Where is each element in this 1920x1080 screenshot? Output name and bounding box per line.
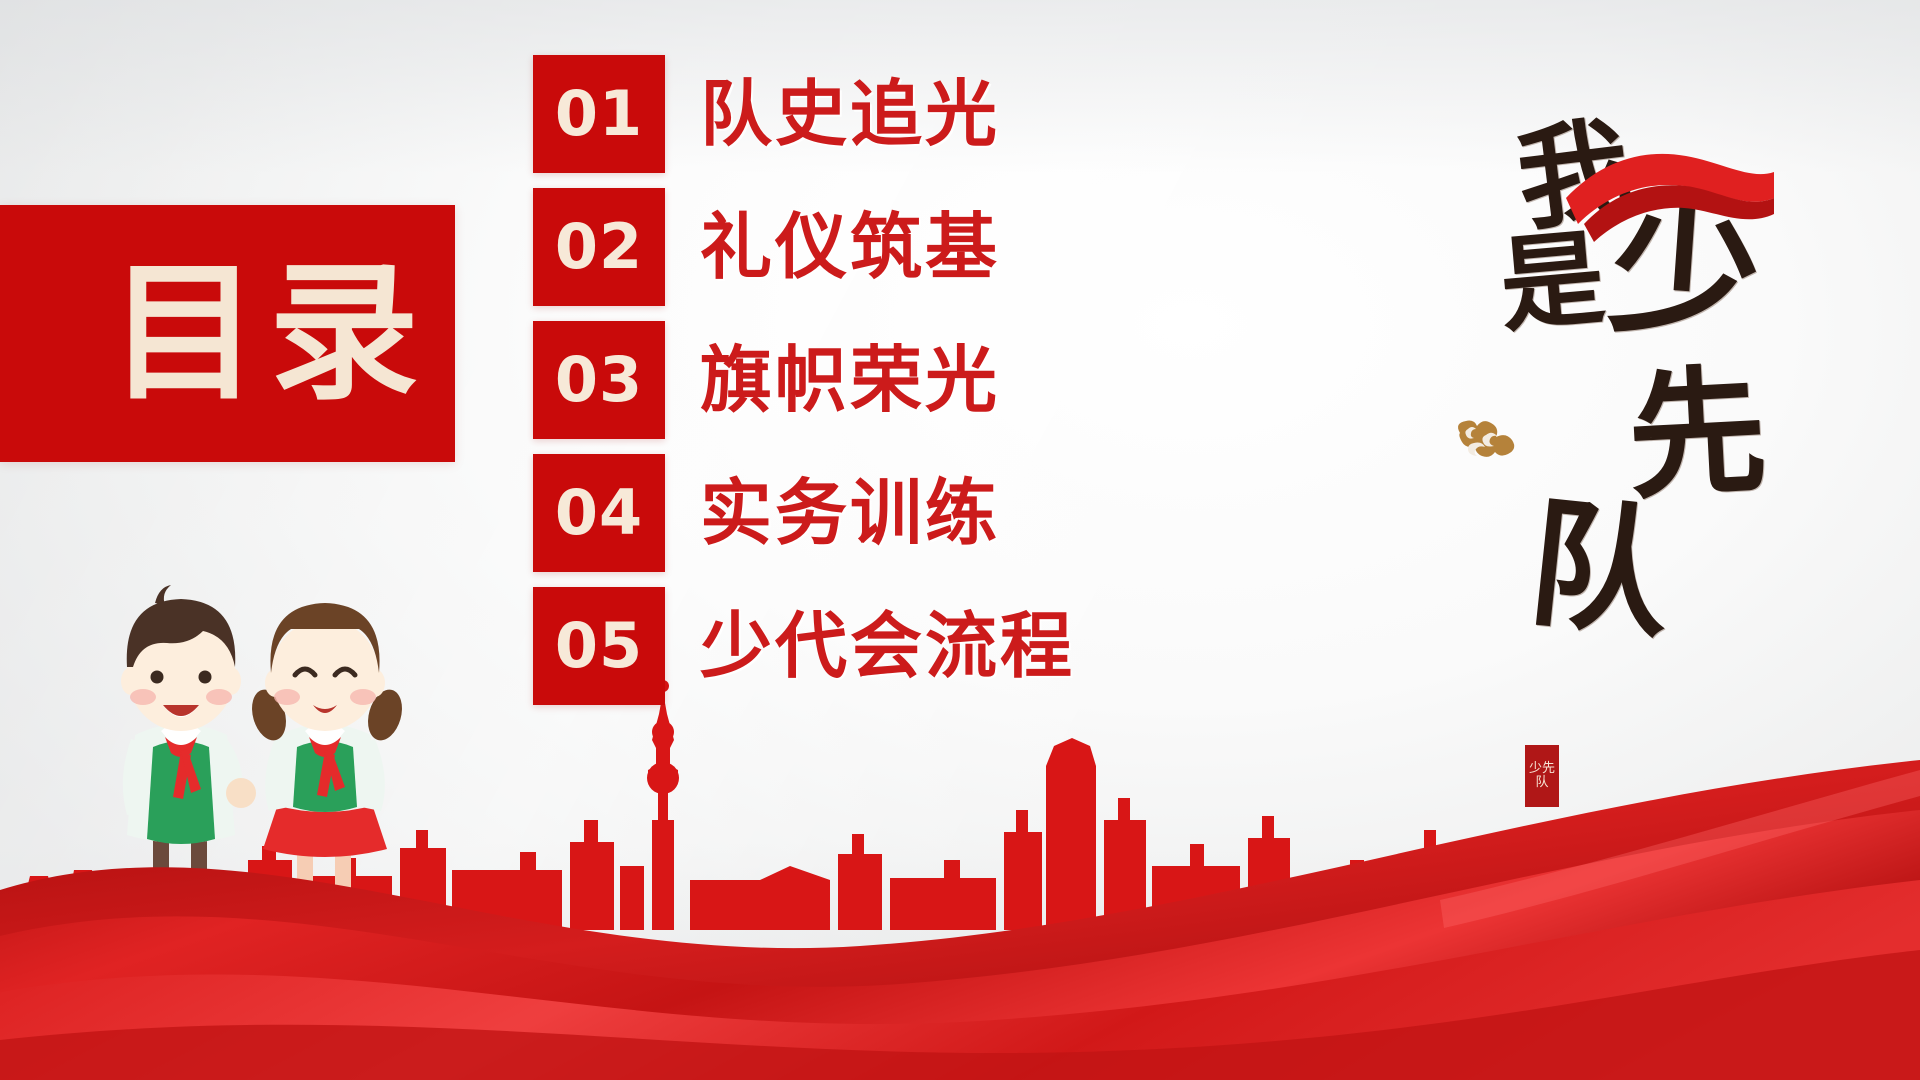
toc-label: 少代会流程 bbox=[700, 610, 1075, 682]
toc-number-badge: 01 bbox=[533, 55, 665, 173]
list-item[interactable]: 03 旗帜荣光 bbox=[533, 321, 1075, 439]
calligraphy-char: 我 bbox=[1512, 114, 1637, 239]
auspicious-cloud-icon bbox=[1450, 415, 1520, 460]
list-item[interactable]: 02 礼仪筑基 bbox=[533, 188, 1075, 306]
calligraphy-red-ribbon-icon bbox=[1560, 128, 1780, 258]
toc-number-badge: 02 bbox=[533, 188, 665, 306]
toc-number: 04 bbox=[555, 482, 643, 544]
toc-number-badge: 03 bbox=[533, 321, 665, 439]
page-title-box: 目录 bbox=[0, 205, 455, 462]
list-item[interactable]: 01 队史追光 bbox=[533, 55, 1075, 173]
calligraphy-brush-title: 我 是 少 先 队 bbox=[1500, 120, 1800, 680]
calligraphy-char: 少 bbox=[1605, 190, 1765, 350]
calligraphy-char: 是 bbox=[1496, 226, 1609, 339]
toc-number: 02 bbox=[555, 216, 643, 278]
calligraphy-char: 先 bbox=[1624, 361, 1769, 506]
artist-seal: 少先队 bbox=[1525, 745, 1559, 807]
table-of-contents: 01 队史追光 02 礼仪筑基 03 旗帜荣光 04 实务训练 05 bbox=[533, 55, 1075, 705]
toc-number: 03 bbox=[555, 349, 643, 411]
list-item[interactable]: 04 实务训练 bbox=[533, 454, 1075, 572]
list-item[interactable]: 05 少代会流程 bbox=[533, 587, 1075, 705]
toc-label: 礼仪筑基 bbox=[700, 211, 1000, 283]
calligraphy-char: 队 bbox=[1523, 493, 1677, 647]
toc-label: 实务训练 bbox=[700, 477, 1000, 549]
toc-label: 队史追光 bbox=[700, 78, 1000, 150]
toc-number-badge: 04 bbox=[533, 454, 665, 572]
red-silk-ribbon bbox=[0, 740, 1920, 1080]
slide-canvas: 目录 01 队史追光 02 礼仪筑基 03 旗帜荣光 04 实务训练 bbox=[0, 0, 1920, 1080]
toc-number: 01 bbox=[555, 83, 643, 145]
page-title: 目录 bbox=[109, 259, 455, 409]
seal-text: 少先队 bbox=[1525, 762, 1559, 790]
toc-number: 05 bbox=[555, 615, 643, 677]
toc-label: 旗帜荣光 bbox=[700, 344, 1000, 416]
toc-number-badge: 05 bbox=[533, 587, 665, 705]
